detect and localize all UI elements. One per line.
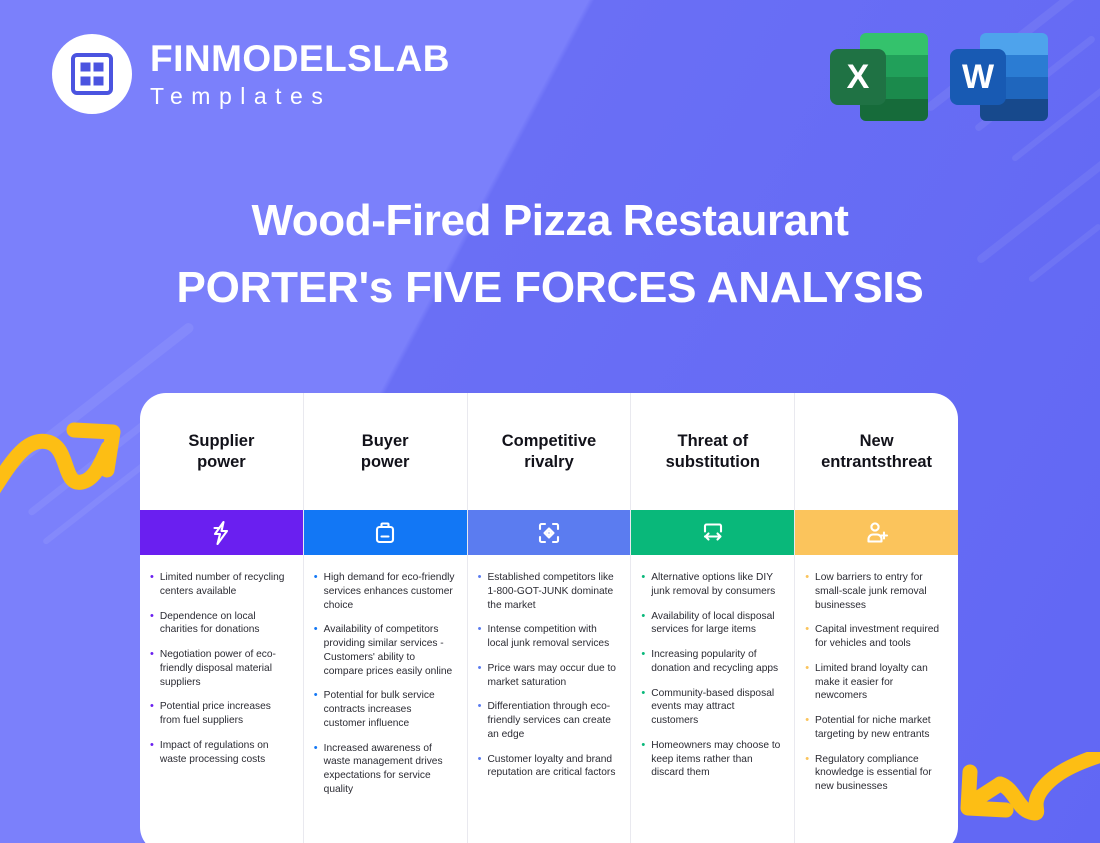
office-format-icons: X W: [830, 27, 1048, 121]
bullet-dot-icon: •: [150, 571, 154, 599]
brand-logo[interactable]: FINMODELSLAB Templates: [52, 34, 450, 114]
brand-name: FINMODELSLAB: [150, 40, 450, 77]
force-column: Buyerpower• High demand for eco-friendly…: [304, 393, 468, 843]
bullet-dot-icon: •: [641, 739, 645, 780]
force-bullet-item: •Differentiation through eco-friendly se…: [478, 700, 619, 741]
force-bullet-item: • Limited number of recycling centers av…: [150, 571, 291, 599]
force-bullet-item: •Availability of competitors providing s…: [314, 623, 455, 678]
force-bullet-text: Dependence on local charities for donati…: [160, 610, 291, 638]
force-bullet-item: •Increased awareness of waste management…: [314, 742, 455, 797]
force-color-band: [140, 510, 303, 555]
force-color-band: [631, 510, 794, 555]
force-bullet-item: •Availability of local disposal services…: [641, 610, 782, 638]
force-bullet-item: •Established competitors like 1-800-GOT-…: [478, 571, 619, 612]
briefcase-icon: [372, 520, 398, 546]
title-framework: PORTER's FIVE FORCES ANALYSIS: [0, 260, 1100, 315]
page-header: FINMODELSLAB Templates X W: [0, 0, 1100, 150]
force-bullet-text: Limited brand loyalty can make it easier…: [815, 662, 946, 703]
force-bullet-item: •Potential for niche market targeting by…: [805, 714, 946, 742]
bullet-dot-icon: •: [150, 648, 154, 689]
force-bullet-list: • Low barriers to entry for small-scale …: [795, 555, 958, 815]
force-column-header: Buyerpower: [304, 393, 467, 510]
excel-icon[interactable]: X: [830, 27, 928, 121]
five-forces-card: Supplierpower• Limited number of recycli…: [140, 393, 958, 843]
bullet-dot-icon: •: [478, 662, 482, 690]
bullet-dot-icon: •: [478, 623, 482, 651]
force-header-line-1: Competitive: [502, 431, 596, 452]
lightning-bolt-icon: [208, 520, 234, 546]
force-bullet-item: •Intense competition with local junk rem…: [478, 623, 619, 651]
force-bullet-text: Homeowners may choose to keep items rath…: [651, 739, 782, 780]
force-bullet-text: Negotiation power of eco-friendly dispos…: [160, 648, 291, 689]
force-bullet-text: Potential price increases from fuel supp…: [160, 700, 291, 728]
bullet-dot-icon: •: [805, 753, 809, 794]
page-title: Wood-Fired Pizza Restaurant PORTER's FIV…: [0, 193, 1100, 315]
force-column-header: Threat ofsubstitution: [631, 393, 794, 510]
word-icon[interactable]: W: [950, 27, 1048, 121]
force-bullet-text: Customer loyalty and brand reputation ar…: [487, 753, 618, 781]
force-bullet-item: •Potential for bulk service contracts in…: [314, 689, 455, 730]
force-bullet-item: • High demand for eco-friendly services …: [314, 571, 455, 612]
force-bullet-item: •Capital investment required for vehicle…: [805, 623, 946, 651]
force-bullet-item: •Impact of regulations on waste processi…: [150, 739, 291, 767]
force-column-header: Supplierpower: [140, 393, 303, 510]
force-bullet-list: • High demand for eco-friendly services …: [304, 555, 467, 818]
force-color-band: [304, 510, 467, 555]
force-bullet-item: •Customer loyalty and brand reputation a…: [478, 753, 619, 781]
force-bullet-item: •Potential price increases from fuel sup…: [150, 700, 291, 728]
bullet-dot-icon: •: [641, 687, 645, 728]
force-bullet-text: Availability of competitors providing si…: [324, 623, 455, 678]
force-header-line-2: power: [361, 452, 410, 473]
force-bullet-item: • Alternative options like DIY junk remo…: [641, 571, 782, 599]
force-bullet-text: Established competitors like 1-800-GOT-J…: [487, 571, 618, 612]
force-bullet-text: Regulatory compliance knowledge is essen…: [815, 753, 946, 794]
force-header-line-2: entrantsthreat: [821, 452, 932, 473]
force-column-header: Competitiverivalry: [468, 393, 631, 510]
bullet-dot-icon: •: [478, 700, 482, 741]
word-icon-letter: W: [950, 49, 1006, 105]
force-column: Newentrantsthreat• Low barriers to entry…: [795, 393, 958, 843]
squiggle-arrow-up-right-icon: [0, 408, 122, 509]
force-bullet-text: Availability of local disposal services …: [651, 610, 782, 638]
force-bullet-text: Impact of regulations on waste processin…: [160, 739, 291, 767]
force-bullet-text: Potential for bulk service contracts inc…: [324, 689, 455, 730]
force-bullet-item: •Limited brand loyalty can make it easie…: [805, 662, 946, 703]
force-bullet-list: • Alternative options like DIY junk remo…: [631, 555, 794, 801]
title-subject: Wood-Fired Pizza Restaurant: [0, 193, 1100, 248]
force-bullet-text: Limited number of recycling centers avai…: [160, 571, 291, 599]
bullet-dot-icon: •: [805, 714, 809, 742]
force-bullet-text: Intense competition with local junk remo…: [487, 623, 618, 651]
force-bullet-item: •Community-based disposal events may att…: [641, 687, 782, 728]
force-bullet-text: Low barriers to entry for small-scale ju…: [815, 571, 946, 612]
force-header-line-2: power: [188, 452, 254, 473]
force-bullet-item: • Low barriers to entry for small-scale …: [805, 571, 946, 612]
bullet-dot-icon: •: [641, 610, 645, 638]
force-bullet-item: •Homeowners may choose to keep items rat…: [641, 739, 782, 780]
force-bullet-item: •Increasing popularity of donation and r…: [641, 648, 782, 676]
force-color-band: [468, 510, 631, 555]
force-bullet-text: Differentiation through eco-friendly ser…: [487, 700, 618, 741]
force-header-line-2: rivalry: [502, 452, 596, 473]
force-column: Supplierpower• Limited number of recycli…: [140, 393, 304, 843]
bullet-dot-icon: •: [805, 571, 809, 612]
bullet-dot-icon: •: [805, 623, 809, 651]
force-header-line-2: substitution: [666, 452, 760, 473]
force-bullet-text: Increased awareness of waste management …: [324, 742, 455, 797]
force-header-line-1: Buyer: [361, 431, 410, 452]
force-bullet-item: •Regulatory compliance knowledge is esse…: [805, 753, 946, 794]
bullet-dot-icon: •: [150, 610, 154, 638]
force-header-line-1: Threat of: [666, 431, 760, 452]
force-column: Competitiverivalry•Established competito…: [468, 393, 632, 843]
five-forces-table: Supplierpower• Limited number of recycli…: [140, 393, 958, 843]
force-column: Threat ofsubstitution• Alternative optio…: [631, 393, 795, 843]
bullet-dot-icon: •: [314, 689, 318, 730]
bullet-dot-icon: •: [150, 739, 154, 767]
bullet-dot-icon: •: [314, 571, 318, 612]
excel-icon-letter: X: [830, 49, 886, 105]
target-focus-icon: [536, 520, 562, 546]
exchange-arrows-icon: [700, 520, 726, 546]
force-bullet-list: •Established competitors like 1-800-GOT-…: [468, 555, 631, 801]
force-bullet-text: High demand for eco-friendly services en…: [324, 571, 455, 612]
bullet-dot-icon: •: [641, 648, 645, 676]
bullet-dot-icon: •: [478, 753, 482, 781]
force-bullet-text: Potential for niche market targeting by …: [815, 714, 946, 742]
brand-subtitle: Templates: [150, 85, 450, 108]
force-bullet-item: •Dependence on local charities for donat…: [150, 610, 291, 638]
force-header-line-1: New: [821, 431, 932, 452]
squiggle-arrow-down-left-icon: [948, 752, 1100, 843]
force-column-header: Newentrantsthreat: [795, 393, 958, 510]
bullet-dot-icon: •: [314, 623, 318, 678]
bullet-dot-icon: •: [150, 700, 154, 728]
grid-squares-icon: [52, 34, 132, 114]
force-bullet-list: • Limited number of recycling centers av…: [140, 555, 303, 787]
bullet-dot-icon: •: [805, 662, 809, 703]
bullet-dot-icon: •: [478, 571, 482, 612]
force-color-band: [795, 510, 958, 555]
force-bullet-item: •Negotiation power of eco-friendly dispo…: [150, 648, 291, 689]
bullet-dot-icon: •: [314, 742, 318, 797]
force-bullet-text: Price wars may occur due to market satur…: [487, 662, 618, 690]
force-bullet-item: •Price wars may occur due to market satu…: [478, 662, 619, 690]
force-bullet-text: Alternative options like DIY junk remova…: [651, 571, 782, 599]
force-bullet-text: Community-based disposal events may attr…: [651, 687, 782, 728]
force-bullet-text: Capital investment required for vehicles…: [815, 623, 946, 651]
force-header-line-1: Supplier: [188, 431, 254, 452]
bullet-dot-icon: •: [641, 571, 645, 599]
add-user-icon: [864, 520, 890, 546]
force-bullet-text: Increasing popularity of donation and re…: [651, 648, 782, 676]
